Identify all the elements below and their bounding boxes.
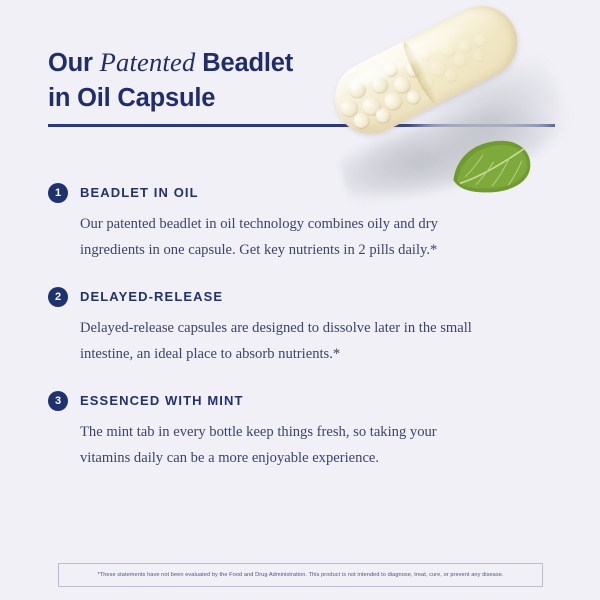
disclaimer-box: *These statements have not been evaluate… xyxy=(58,563,543,587)
feature-body: The mint tab in every bottle keep things… xyxy=(80,419,480,471)
feature-item-2: 2 DELAYED-RELEASE Delayed-release capsul… xyxy=(48,286,478,367)
feature-title: ESSENCED WITH MINT xyxy=(80,390,478,408)
title-italic-word: Patented xyxy=(100,47,196,77)
feature-body: Delayed-release capsules are designed to… xyxy=(80,315,480,367)
title-part-2: Beadlet xyxy=(195,49,293,77)
disclaimer-text: *These statements have not been evaluate… xyxy=(97,572,503,578)
feature-number-badge: 2 xyxy=(48,287,68,307)
feature-title: DELAYED-RELEASE xyxy=(80,286,478,304)
feature-item-3: 3 ESSENCED WITH MINT The mint tab in eve… xyxy=(48,390,478,471)
infographic-panel: Our Patented Beadlet in Oil Capsule xyxy=(0,0,600,600)
title-part-1: Our xyxy=(48,49,100,77)
feature-number-badge: 1 xyxy=(48,183,68,203)
feature-title: BEADLET IN OIL xyxy=(80,182,478,200)
feature-number-badge: 3 xyxy=(48,391,68,411)
feature-item-1: 1 BEADLET IN OIL Our patented beadlet in… xyxy=(48,182,478,263)
product-photo xyxy=(310,18,590,198)
title-line-2: in Oil Capsule xyxy=(48,84,215,112)
feature-body: Our patented beadlet in oil technology c… xyxy=(80,211,480,263)
